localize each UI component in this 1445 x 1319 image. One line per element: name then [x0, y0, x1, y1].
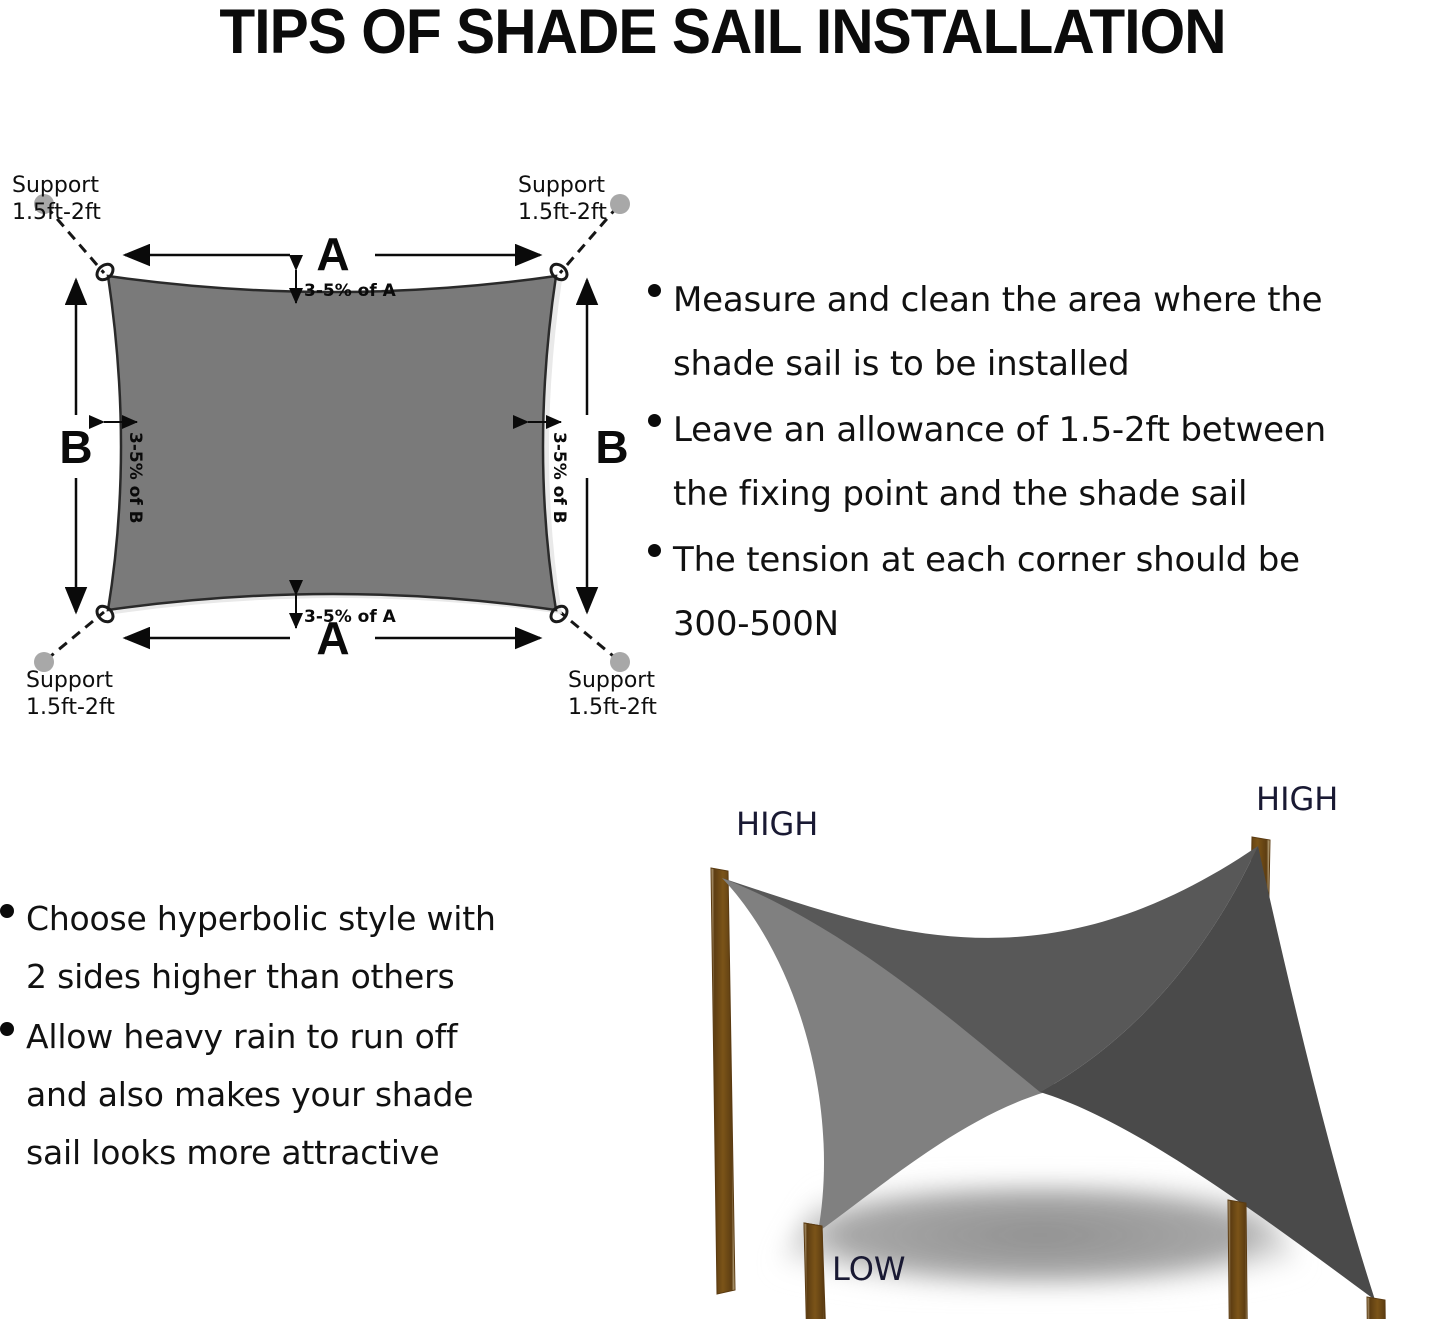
dimension-label-b-right: B — [595, 421, 628, 473]
hyperbolic-sail-svg: HIGH HIGH LOW LOW — [640, 780, 1445, 1319]
tips-list-top: Measure and clean the area where the sha… — [648, 268, 1445, 658]
bullet-dot-icon — [648, 284, 661, 297]
support-label-bottom-right-line1: Support — [568, 668, 655, 693]
bullet-dot-icon — [648, 544, 661, 557]
tips-list-bottom: Choose hyperbolic style with 2 sides hig… — [0, 890, 620, 1184]
tip-item-2-line-1: Leave an allowance of 1.5-2ft between — [673, 398, 1326, 462]
tip-item-3-line-1: The tension at each corner should be — [673, 528, 1300, 592]
curve-label-b-left: 3-5% of B — [125, 432, 145, 524]
support-label-top-left-line2: 1.5ft-2ft — [12, 200, 101, 225]
support-label-top-left-line1: Support — [12, 173, 99, 198]
bullet-dot-icon — [648, 414, 661, 427]
dimension-label-a-top: A — [316, 228, 349, 280]
tip-item-1: Measure and clean the area where the sha… — [648, 268, 1445, 396]
curve-label-a-bottom: 3-5% of A — [304, 607, 397, 627]
support-label-bottom-left-line1: Support — [26, 668, 113, 693]
tip-item-3-text: The tension at each corner should be 300… — [673, 528, 1300, 656]
rectangular-sail-svg: A 3-5% of A A 3-5% of A B — [0, 160, 665, 730]
tip-item-1-line-2: shade sail is to be installed — [673, 332, 1322, 396]
infographic-page: TIPS OF SHADE SAIL INSTALLATION — [0, 0, 1445, 1319]
tip-item-2-text: Leave an allowance of 1.5-2ft between th… — [673, 398, 1326, 526]
support-label-top-right-line2: 1.5ft-2ft — [518, 200, 607, 225]
tip-item-2-line-2: the fixing point and the shade sail — [673, 462, 1326, 526]
tip-item-2: Leave an allowance of 1.5-2ft between th… — [648, 398, 1445, 526]
post-mid-left — [804, 1223, 826, 1319]
tip-item-5-line-1: Allow heavy rain to run off — [26, 1008, 473, 1066]
support-label-top-right-line1: Support — [518, 173, 605, 198]
sail-body — [108, 276, 562, 614]
sail-fabric — [108, 276, 556, 610]
tether-bottom-left — [46, 612, 104, 660]
tip-item-4-text: Choose hyperbolic style with 2 sides hig… — [26, 890, 496, 1006]
label-high-right: HIGH — [1256, 780, 1338, 818]
label-high-left: HIGH — [736, 805, 818, 843]
tip-item-4-line-1: Choose hyperbolic style with — [26, 890, 496, 948]
tip-item-5-line-3: sail looks more attractive — [26, 1124, 473, 1182]
curve-label-a-top: 3-5% of A — [304, 281, 397, 301]
tip-item-5-line-2: and also makes your shade — [26, 1066, 473, 1124]
tether-bottom-right — [560, 612, 618, 660]
tip-item-5: Allow heavy rain to run off and also mak… — [0, 1008, 620, 1182]
page-title: TIPS OF SHADE SAIL INSTALLATION — [51, 0, 1395, 68]
bullet-dot-icon — [0, 904, 14, 918]
tip-item-3-line-2: 300-500N — [673, 592, 1300, 656]
tip-item-4: Choose hyperbolic style with 2 sides hig… — [0, 890, 620, 1006]
tip-item-3: The tension at each corner should be 300… — [648, 528, 1445, 656]
support-dot-top-right — [610, 194, 630, 214]
tip-item-1-line-1: Measure and clean the area where the — [673, 268, 1322, 332]
curve-label-b-right: 3-5% of B — [549, 432, 569, 524]
support-label-bottom-left-line2: 1.5ft-2ft — [26, 695, 115, 720]
post-left-high — [711, 868, 735, 1294]
post-mid-right — [1228, 1200, 1248, 1319]
dimension-label-b-left: B — [59, 421, 92, 473]
hyperbolic-sail-diagram: HIGH HIGH LOW LOW — [640, 780, 1445, 1319]
post-right-low — [1367, 1297, 1388, 1319]
rectangular-sail-diagram: A 3-5% of A A 3-5% of A B — [0, 160, 665, 730]
tip-item-1-text: Measure and clean the area where the sha… — [673, 268, 1322, 396]
bullet-dot-icon — [0, 1022, 14, 1036]
label-low-left: LOW — [832, 1250, 906, 1288]
tip-item-5-text: Allow heavy rain to run off and also mak… — [26, 1008, 473, 1182]
support-label-bottom-right-line2: 1.5ft-2ft — [568, 695, 657, 720]
tip-item-4-line-2: 2 sides higher than others — [26, 948, 496, 1006]
